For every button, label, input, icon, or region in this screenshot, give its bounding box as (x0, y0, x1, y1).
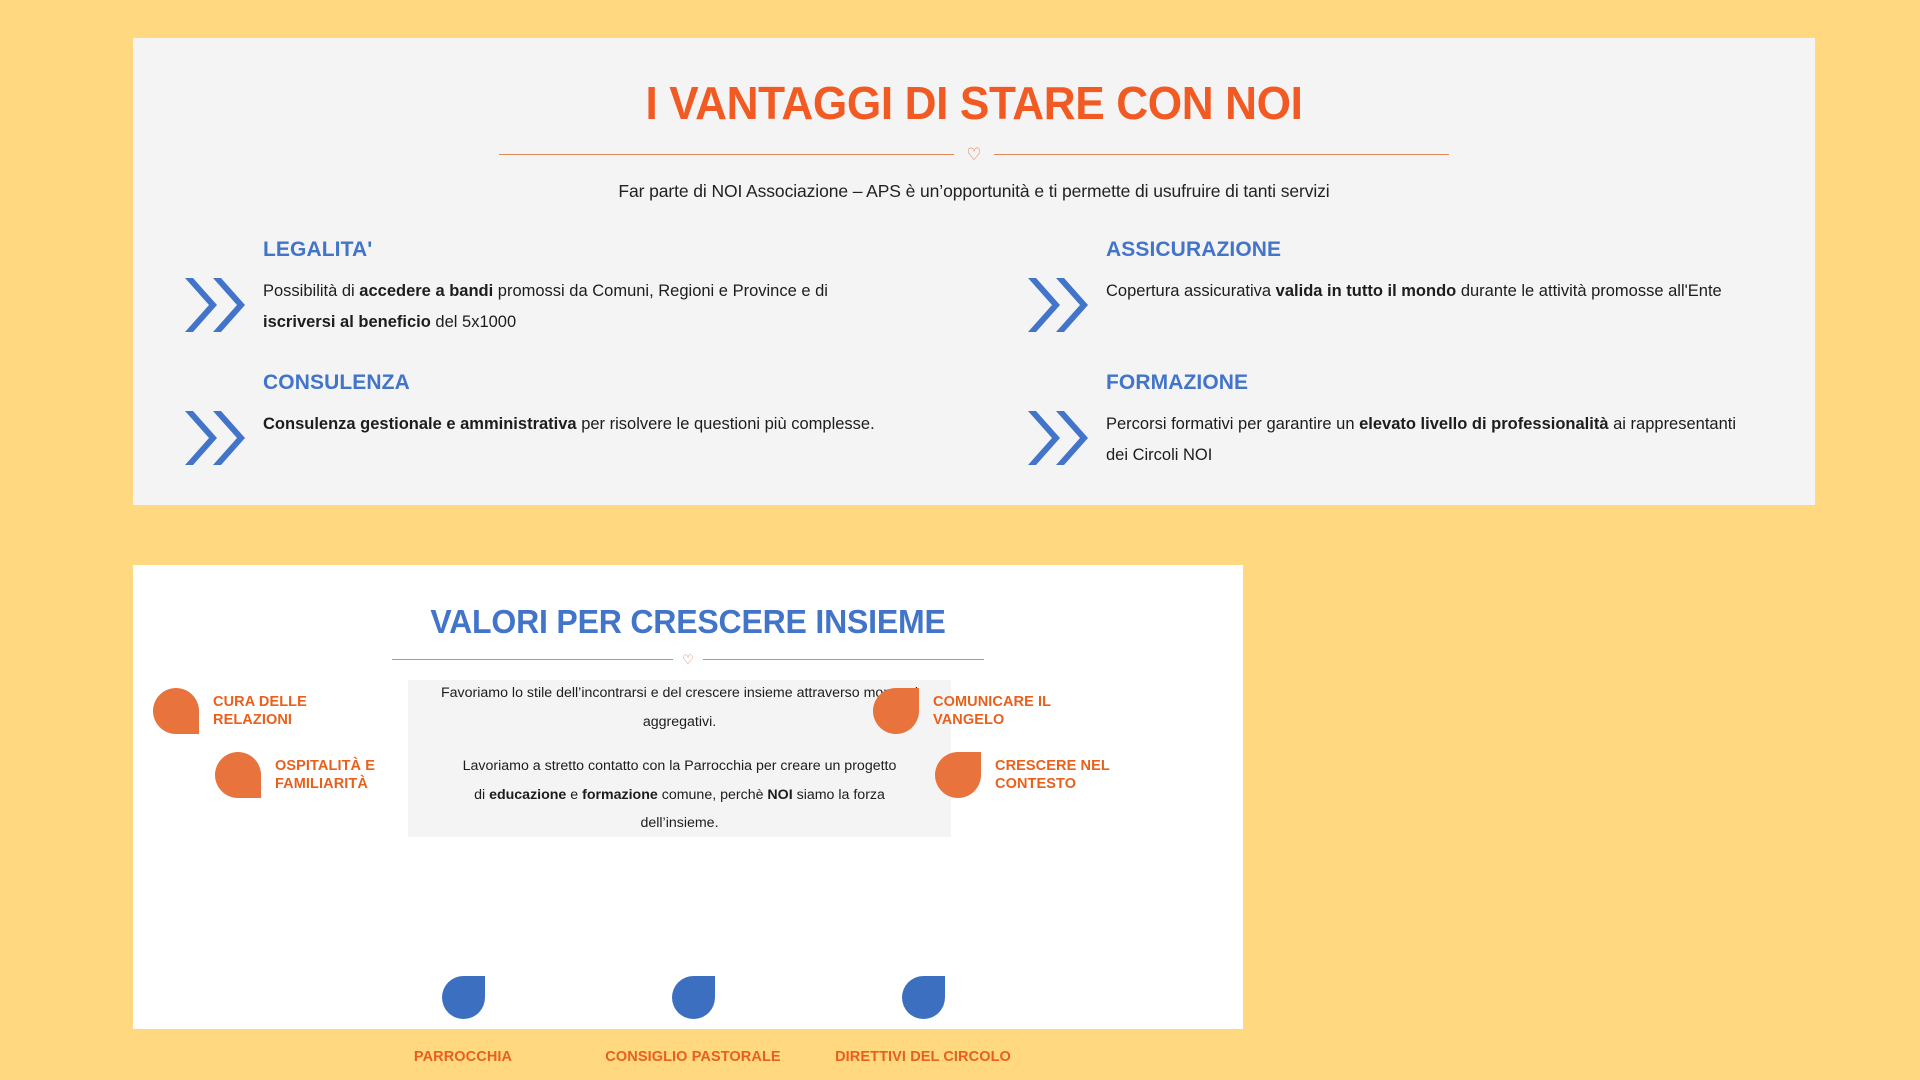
values-divider: ♡ (392, 653, 984, 666)
teardrop-blue-icon (672, 976, 715, 1019)
divider-line-left (392, 659, 673, 660)
center-box-line-3: di educazione e formazione comune, perch… (438, 781, 921, 838)
values-left-labels: CURA DELLE RELAZIONI OSPITALITÀ E FAMILI… (153, 688, 383, 816)
advantage-item-legalita: LEGALITA' Possibilità di accedere a band… (183, 238, 952, 343)
heart-icon: ♡ (954, 146, 993, 163)
advantage-body: Copertura assicurativa valida in tutto i… (1106, 276, 1746, 307)
teardrop-orange-icon (873, 688, 919, 734)
teardrop-orange-icon (215, 752, 261, 798)
divider-line-right (994, 154, 1449, 155)
advantages-grid: LEGALITA' Possibilità di accedere a band… (133, 238, 1815, 504)
value-label: COMUNICARE IL VANGELO (933, 693, 1123, 729)
advantage-body: Consulenza gestionale e amministrativa p… (263, 409, 903, 440)
value-label: CRESCERE NEL CONTESTO (995, 757, 1123, 793)
teardrop-orange-icon (153, 688, 199, 734)
advantages-divider: ♡ (499, 146, 1449, 163)
teardrop-wrap (823, 976, 1023, 1019)
divider-line-right (703, 659, 984, 660)
double-chevron-right-icon (1026, 274, 1092, 336)
bottom-item-title: CONSIGLIO PASTORALE (593, 1049, 793, 1065)
value-label: CURA DELLE RELAZIONI (213, 693, 383, 729)
teardrop-wrap (593, 976, 793, 1019)
teardrop-orange-icon (935, 752, 981, 798)
center-box-line-2: Lavoriamo a stretto contatto con la Parr… (463, 752, 897, 780)
value-item-ospitalita-e-familiarita: OSPITALITÀ E FAMILIARITÀ (215, 752, 383, 798)
advantage-heading: CONSULENZA (263, 371, 952, 395)
value-label: OSPITALITÀ E FAMILIARITÀ (275, 757, 383, 793)
advantage-body: Possibilità di accedere a bandi promossi… (263, 276, 903, 337)
double-chevron-right-icon (183, 274, 249, 336)
values-middle-region: CURA DELLE RELAZIONI OSPITALITÀ E FAMILI… (133, 688, 1243, 878)
teardrop-blue-icon (442, 976, 485, 1019)
center-box-line-1: Favoriamo lo stile dell’incontrarsi e de… (438, 679, 921, 736)
value-item-comunicare-il-vangelo: COMUNICARE IL VANGELO (873, 688, 1123, 734)
values-title: VALORI PER CRESCERE INSIEME (150, 565, 1227, 641)
advantages-subtitle: Far parte di NOI Associazione – APS è un… (133, 181, 1815, 202)
bottom-item-title: DIRETTIVI DEL CIRCOLO (823, 1049, 1023, 1065)
value-item-cura-delle-relazioni: CURA DELLE RELAZIONI (153, 688, 383, 734)
bottom-item-desc: Presiede la parte gestionale e attuativa… (823, 1073, 1023, 1080)
advantage-heading: ASSICURAZIONE (1106, 238, 1795, 262)
bottom-item-parrocchia: PARROCCHIA Promuovere la nascita dell’as… (363, 976, 563, 1080)
advantage-heading: LEGALITA' (263, 238, 952, 262)
values-panel: VALORI PER CRESCERE INSIEME ♡ CURA DELLE… (133, 565, 1243, 1029)
double-chevron-right-icon (1026, 407, 1092, 469)
teardrop-blue-icon (902, 976, 945, 1019)
teardrop-wrap (363, 976, 563, 1019)
page-root: I VANTAGGI DI STARE CON NOI ♡ Far parte … (0, 0, 1920, 1080)
values-right-labels: COMUNICARE IL VANGELO CRESCERE NEL CONTE… (873, 688, 1123, 816)
divider-line-left (499, 154, 954, 155)
advantage-item-assicurazione: ASSICURAZIONE Copertura assicurativa val… (1026, 238, 1795, 343)
advantage-item-consulenza: CONSULENZA Consulenza gestionale e ammin… (183, 371, 952, 476)
advantages-panel: I VANTAGGI DI STARE CON NOI ♡ Far parte … (133, 38, 1815, 505)
advantage-item-formazione: FORMAZIONE Percorsi formativi per garant… (1026, 371, 1795, 476)
advantage-heading: FORMAZIONE (1106, 371, 1795, 395)
bottom-item-title: PARROCCHIA (363, 1049, 563, 1065)
bottom-item-direttivi-del-circolo: DIRETTIVI DEL CIRCOLO Presiede la parte … (823, 976, 1023, 1080)
advantages-title: I VANTAGGI DI STARE CON NOI (167, 38, 1782, 126)
values-bottom-items: PARROCCHIA Promuovere la nascita dell’as… (363, 976, 1023, 1080)
bottom-item-desc: Promuovere la nascita dell’associazione … (363, 1073, 563, 1080)
heart-icon: ♡ (673, 653, 703, 666)
value-item-crescere-nel-contesto: CRESCERE NEL CONTESTO (935, 752, 1123, 798)
values-center-box: Favoriamo lo stile dell’incontrarsi e de… (408, 680, 951, 837)
double-chevron-right-icon (183, 407, 249, 469)
bottom-item-desc: Determina gli ambiti d’intervento dell’a… (593, 1073, 793, 1080)
advantage-body: Percorsi formativi per garantire un elev… (1106, 409, 1746, 470)
bottom-item-consiglio-pastorale: CONSIGLIO PASTORALE Determina gli ambiti… (593, 976, 793, 1080)
